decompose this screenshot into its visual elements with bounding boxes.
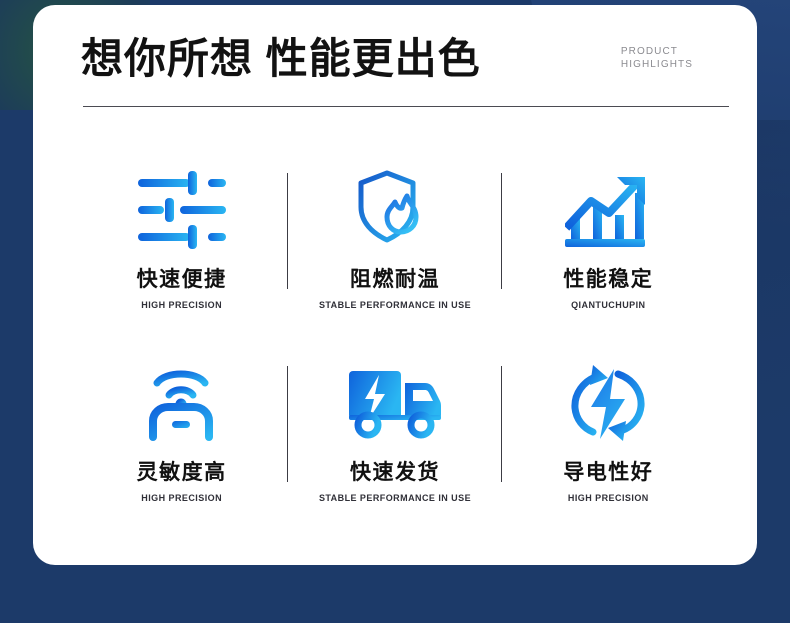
conductivity-bolt-icon [567,362,649,444]
feature-item-4: 灵敏度高 HIGH PRECISION [75,338,288,531]
kicker-text: PRODUCT HIGHLIGHTS [621,45,693,71]
feature-label: 快速便捷 [137,267,227,293]
feature-label: 导电性好 [563,460,653,486]
feature-item-3: 性能稳定 QIANTUCHUPIN [502,145,715,338]
feature-item-1: 快速便捷 HIGH PRECISION [75,145,288,338]
product-highlights-page: 想你所想 性能更出色 PRODUCT HIGHLIGHTS [0,0,790,623]
header-divider [83,106,729,107]
growth-chart-icon [565,169,651,251]
content-card: 想你所想 性能更出色 PRODUCT HIGHLIGHTS [33,5,757,565]
feature-label: 性能稳定 [563,267,653,293]
feature-item-6: 导电性好 HIGH PRECISION [502,338,715,531]
wireless-sensor-icon [143,362,221,444]
feature-label: 快速发货 [350,460,440,486]
feature-subtitle: STABLE PERFORMANCE IN USE [319,300,471,310]
feature-subtitle: STABLE PERFORMANCE IN USE [319,493,471,503]
feature-label: 阻燃耐温 [350,267,440,293]
sliders-icon [136,169,228,251]
feature-grid: 快速便捷 HIGH PRECISION [75,145,715,531]
feature-label: 灵敏度高 [137,460,227,486]
feature-subtitle: QIANTUCHUPIN [571,300,645,310]
kicker-line-2: HIGHLIGHTS [621,58,693,71]
feature-subtitle: HIGH PRECISION [568,493,649,503]
feature-subtitle: HIGH PRECISION [141,300,222,310]
kicker-line-1: PRODUCT [621,45,693,58]
delivery-truck-icon [347,362,443,444]
feature-item-5: 快速发货 STABLE PERFORMANCE IN USE [288,338,501,531]
page-title: 想你所想 性能更出色 [81,31,481,87]
feature-item-2: 阻燃耐温 STABLE PERFORMANCE IN USE [288,145,501,338]
page-header: 想你所想 性能更出色 PRODUCT HIGHLIGHTS [81,31,717,95]
feature-subtitle: HIGH PRECISION [141,493,222,503]
shield-flame-icon [357,169,433,251]
